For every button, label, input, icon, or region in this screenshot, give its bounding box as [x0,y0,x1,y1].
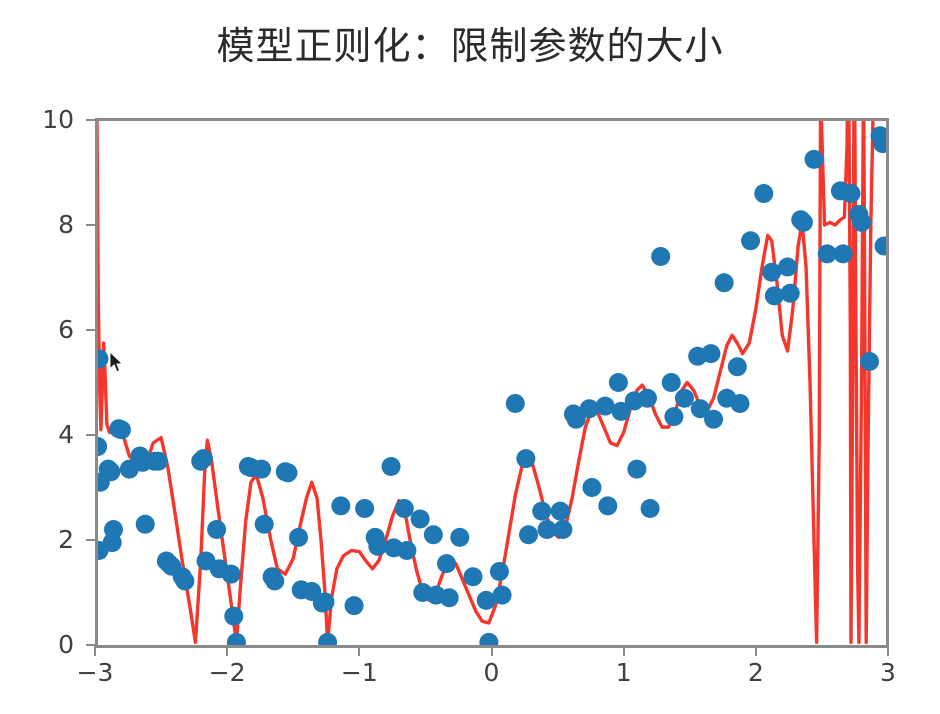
scatter-point [664,407,683,426]
x-tick-mark [226,646,228,656]
scatter-point [662,373,681,392]
scatter-point [860,352,879,371]
y-tick-mark [86,434,96,436]
scatter-point [516,449,535,468]
axis-spine-left [95,118,98,648]
scatter-point [355,499,374,518]
y-tick-label: 8 [16,212,74,237]
scatter-point [224,607,243,626]
scatter-point [804,150,823,169]
scatter-points [95,126,888,645]
x-tick-label: 0 [462,660,522,685]
scatter-point [582,478,601,497]
scatter-point [551,502,570,521]
scatter-point [315,592,334,611]
scatter-point [765,286,784,305]
scatter-point [701,344,720,363]
scatter-point [741,231,760,250]
plot-area [95,120,888,645]
x-tick-mark [94,646,96,656]
y-tick-mark [86,119,96,121]
scatter-point [506,394,525,413]
x-tick-label: 2 [726,660,786,685]
scatter-point [490,562,509,581]
x-tick-mark [623,646,625,656]
scatter-point [781,284,800,303]
plot-canvas [95,120,888,645]
scatter-point [318,633,337,645]
scatter-point [553,520,572,539]
scatter-point [479,633,498,645]
scatter-point [450,528,469,547]
scatter-point [255,515,274,534]
scatter-point [609,373,628,392]
scatter-point [331,496,350,515]
y-tick-mark [86,224,96,226]
scatter-point [834,244,853,263]
matplotlib-figure: 模型正则化：限制参数的大小 1086420−3−2−10123 [0,0,940,714]
y-tick-label: 10 [16,107,74,132]
scatter-point [715,273,734,292]
x-tick-label: 1 [594,660,654,685]
scatter-point [598,496,617,515]
x-tick-mark [755,646,757,656]
scatter-point [227,633,246,645]
scatter-point [794,213,813,232]
scatter-point [424,525,443,544]
scatter-point [627,460,646,479]
scatter-point [440,588,459,607]
scatter-point [101,462,120,481]
axis-spine-right [886,118,889,648]
scatter-point [778,258,797,277]
scatter-point [519,525,538,544]
scatter-point [675,389,694,408]
scatter-point [437,554,456,573]
y-tick-label: 0 [16,632,74,657]
x-tick-mark [887,646,889,656]
x-tick-label: 3 [858,660,918,685]
scatter-point [397,541,416,560]
scatter-point [411,510,430,529]
scatter-point [382,457,401,476]
x-tick-label: −2 [197,660,257,685]
x-tick-label: −3 [65,660,125,685]
scatter-point [103,533,122,552]
y-tick-mark [86,329,96,331]
scatter-point [641,499,660,518]
scatter-point [252,460,271,479]
scatter-point [841,184,860,203]
scatter-point [580,399,599,418]
scatter-point [112,420,131,439]
scatter-point [651,247,670,266]
scatter-point [464,567,483,586]
y-tick-label: 6 [16,317,74,342]
y-tick-mark [86,539,96,541]
scatter-point [149,452,168,471]
scatter-point [638,389,657,408]
y-tick-label: 4 [16,422,74,447]
scatter-point [852,213,871,232]
axis-spine-top [95,118,889,121]
page-title: 模型正则化：限制参数的大小 [0,22,940,70]
scatter-point [704,410,723,429]
scatter-point [265,571,284,590]
scatter-point [532,502,551,521]
scatter-point [222,565,241,584]
scatter-point [278,463,297,482]
scatter-point [207,520,226,539]
scatter-point [289,528,308,547]
scatter-point [194,449,213,468]
y-tick-label: 2 [16,527,74,552]
scatter-point [493,586,512,605]
x-tick-mark [358,646,360,656]
scatter-point [136,515,155,534]
scatter-point [175,571,194,590]
scatter-point [395,499,414,518]
x-tick-mark [491,646,493,656]
scatter-point [754,184,773,203]
scatter-point [730,394,749,413]
scatter-point [728,357,747,376]
scatter-point [345,596,364,615]
x-tick-label: −1 [329,660,389,685]
